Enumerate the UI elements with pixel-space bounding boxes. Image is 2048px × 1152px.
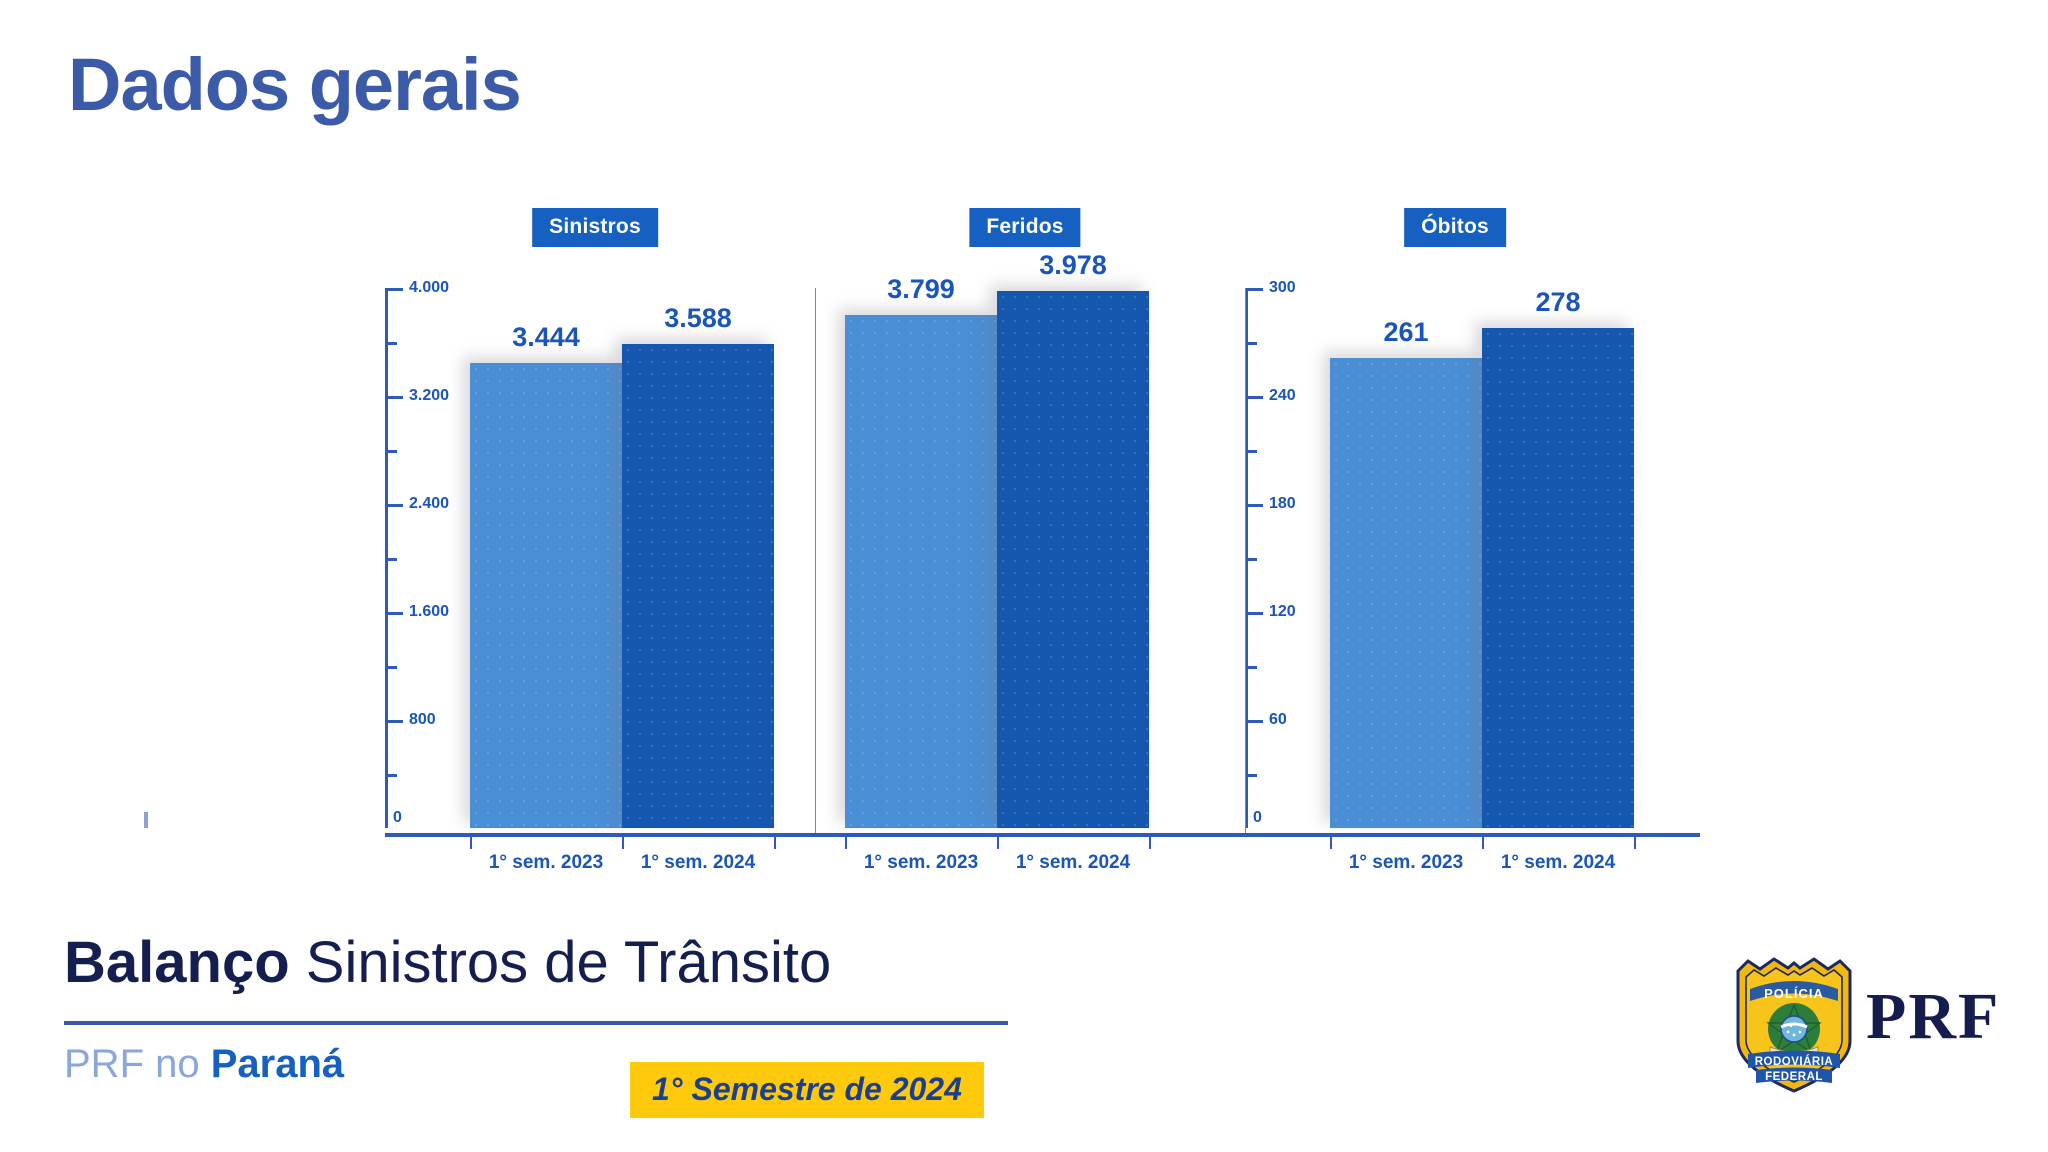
category-tick: [1330, 833, 1332, 849]
category-label: 1° sem. 2023: [1349, 852, 1463, 874]
y-axis-label: 180: [1269, 495, 1296, 513]
y-axis-label: 800: [409, 711, 436, 729]
y-axis-label: 60: [1269, 711, 1287, 729]
period-badge: 1° Semestre de 2024: [630, 1062, 984, 1118]
category-tick: [622, 833, 624, 849]
category-label: 1° sem. 2024: [1501, 852, 1615, 874]
footer-sub-strong: Paraná: [211, 1042, 344, 1086]
category-tick: [1482, 833, 1484, 849]
slide-root: Dados gerais Sinistros08001.6002.4003.20…: [0, 0, 2048, 1152]
bar-value-label: 3.588: [664, 303, 732, 334]
chart-panel-2: Feridos3.7993.978: [815, 200, 1235, 900]
category-label: 1° sem. 2023: [864, 852, 978, 874]
y-axis-minor-tick: [1248, 774, 1257, 777]
panel-divider: [1245, 288, 1246, 833]
y-axis-label: 2.400: [409, 495, 449, 513]
stray-mark: [144, 812, 148, 828]
bar-value-label: 3.978: [1039, 250, 1107, 281]
bar-value-label: 261: [1383, 317, 1428, 348]
bar-feridos-2024[interactable]: [997, 291, 1149, 828]
y-axis-label: 4.000: [409, 279, 449, 297]
y-axis-tick: [1248, 612, 1263, 615]
y-axis-tick: [1248, 720, 1263, 723]
y-axis-tick: [388, 396, 403, 399]
chart-panel-3: Óbitos060120180240300261278: [1245, 200, 1665, 900]
y-axis-minor-tick: [388, 666, 397, 669]
y-axis-minor-tick: [1248, 450, 1257, 453]
y-axis-tick: [388, 288, 403, 291]
chart-panel-1: Sinistros08001.6002.4003.2004.0003.4443.…: [385, 200, 805, 900]
chart-title-badge: Feridos: [969, 208, 1080, 247]
prf-logo: POLÍCIA RODOVIÁRIA FEDERAL PRF: [1730, 955, 2020, 1095]
y-axis-minor-tick: [388, 342, 397, 345]
chart-title-badge: Óbitos: [1404, 208, 1506, 247]
y-axis-minor-tick: [388, 558, 397, 561]
bar-value-label: 3.799: [887, 274, 955, 305]
y-axis-tick: [1248, 504, 1263, 507]
bar-group: 261278: [1330, 288, 1634, 828]
footer-title-rest: Sinistros de Trânsito: [290, 930, 832, 995]
footer-title-bold: Balanço: [64, 930, 290, 995]
category-tick: [997, 833, 999, 849]
bar-sinistros-2023[interactable]: [470, 363, 622, 828]
y-axis-label: 300: [1269, 279, 1296, 297]
y-axis-label: 1.600: [409, 603, 449, 621]
category-tick: [470, 833, 472, 849]
svg-text:FEDERAL: FEDERAL: [1765, 1071, 1823, 1083]
bar-value-label: 278: [1535, 287, 1580, 318]
page-title: Dados gerais: [68, 48, 521, 122]
bar-value-label: 3.444: [512, 322, 580, 353]
y-axis-tick: [388, 612, 403, 615]
charts-container: Sinistros08001.6002.4003.2004.0003.4443.…: [0, 200, 2048, 900]
prf-shield-icon: POLÍCIA RODOVIÁRIA FEDERAL: [1730, 955, 1858, 1095]
y-axis-label: 0: [1253, 809, 1262, 827]
chart-title-badge: Sinistros: [532, 208, 658, 247]
y-axis-minor-tick: [388, 774, 397, 777]
category-tick: [1149, 833, 1151, 849]
y-axis-minor-tick: [1248, 342, 1257, 345]
y-axis-label: 0: [393, 809, 402, 827]
y-axis-tick: [388, 504, 403, 507]
footer-sub-light: PRF no: [64, 1042, 211, 1086]
panel-divider: [815, 288, 816, 833]
chart-baseline: [385, 833, 1700, 837]
y-axis-tick: [1248, 288, 1263, 291]
footer-divider: [64, 1021, 1008, 1025]
plot-area: 060120180240300261278: [1245, 288, 1665, 828]
plot-area: 3.7993.978: [815, 288, 1235, 828]
svg-text:RODOVIÁRIA: RODOVIÁRIA: [1755, 1055, 1833, 1068]
svg-text:POLÍCIA: POLÍCIA: [1764, 986, 1824, 1001]
y-axis-label: 3.200: [409, 387, 449, 405]
footer-title: Balanço Sinistros de Trânsito: [64, 930, 831, 997]
y-axis-minor-tick: [388, 450, 397, 453]
category-tick: [1634, 833, 1636, 849]
category-tick: [774, 833, 776, 849]
bar-feridos-2023[interactable]: [845, 315, 997, 828]
y-axis-tick: [388, 720, 403, 723]
y-axis-label: 240: [1269, 387, 1296, 405]
category-label: 1° sem. 2023: [489, 852, 603, 874]
bar-sinistros-2024[interactable]: [622, 344, 774, 828]
y-axis-label: 120: [1269, 603, 1296, 621]
y-axis-tick: [1248, 396, 1263, 399]
category-tick: [845, 833, 847, 849]
category-label: 1° sem. 2024: [1016, 852, 1130, 874]
bar-group: 3.7993.978: [845, 288, 1149, 828]
category-label: 1° sem. 2024: [641, 852, 755, 874]
prf-wordmark: PRF: [1866, 979, 2000, 1055]
bar-óbitos-2024[interactable]: [1482, 328, 1634, 828]
bar-óbitos-2023[interactable]: [1330, 358, 1482, 828]
y-axis-minor-tick: [1248, 558, 1257, 561]
footer-subtitle: PRF no Paraná: [64, 1040, 344, 1088]
y-axis-minor-tick: [1248, 666, 1257, 669]
bar-group: 3.4443.588: [470, 288, 774, 828]
plot-area: 08001.6002.4003.2004.0003.4443.588: [385, 288, 805, 828]
